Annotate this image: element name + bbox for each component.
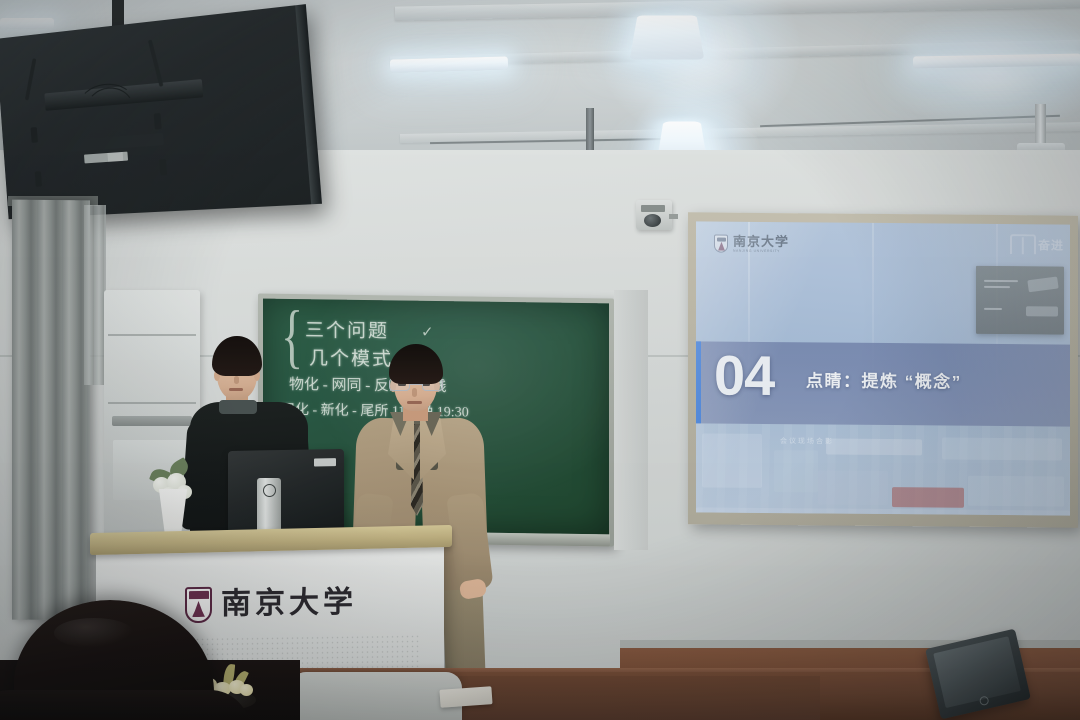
tablet-screen[interactable] — [933, 636, 1021, 708]
light-glow — [880, 10, 1080, 130]
inset-line — [984, 286, 1010, 288]
audience-member-shoulders — [0, 690, 250, 720]
inset-line — [984, 308, 1002, 310]
window-curtain-secondary[interactable] — [84, 205, 106, 385]
window-curtain[interactable] — [12, 200, 90, 621]
fluorescent-light — [0, 18, 54, 29]
slide-section-band: 04 点睛：提炼 “概念” — [696, 341, 1070, 426]
desk-monitor[interactable] — [228, 449, 344, 533]
cabinet-seam — [108, 334, 196, 336]
projection-screen[interactable]: 南京大学 NANJING UNIVERSITY 奋进 04 点睛：提炼 “概念” — [696, 221, 1070, 515]
tv-arm — [148, 39, 164, 86]
light-glow — [600, 0, 800, 140]
tv-bolt — [154, 113, 162, 130]
projection-screen-frame: 南京大学 NANJING UNIVERSITY 奋进 04 点睛：提炼 “概念” — [688, 212, 1078, 527]
tv-bolt — [159, 159, 167, 175]
monitor-logo-icon — [263, 484, 276, 497]
strip-blob — [942, 438, 1062, 461]
presenter-mouth — [407, 401, 422, 404]
tv-spec-label — [107, 152, 123, 162]
ceiling-beam — [395, 0, 1080, 21]
classroom-chair[interactable] — [290, 672, 462, 720]
arrangement-flower — [240, 684, 253, 696]
person-left-collar — [219, 400, 257, 414]
presenter-hair — [389, 344, 443, 384]
slide-section-number: 04 — [714, 348, 774, 405]
camera-lens-icon — [644, 214, 661, 227]
camera-slot — [641, 205, 665, 212]
fluorescent-light — [630, 16, 705, 60]
tv-arm — [25, 58, 36, 100]
air-vent-icon — [112, 416, 192, 426]
chalk-check-icon: ✓ — [421, 323, 434, 342]
podium-logo-text: 南京大学 — [221, 588, 357, 620]
fluorescent-light — [913, 54, 1080, 69]
person-left-hair — [212, 336, 262, 376]
classroom-scene: EPSON { 三个问题 ✓ 几个模式 — [0, 0, 1080, 720]
paper-on-table[interactable] — [439, 686, 492, 708]
hair-highlight — [54, 618, 134, 648]
person-left-mouth — [229, 388, 243, 391]
inset-line — [984, 280, 1018, 282]
strip-blob — [702, 433, 762, 488]
inset-shape — [1026, 306, 1058, 316]
strip-blob — [826, 439, 922, 456]
slide-logo-cn-text: 南京大学 — [733, 235, 789, 248]
presenter-hand — [459, 578, 488, 600]
slide-photo-strip: 会议现场合影 — [696, 423, 1070, 515]
fluorescent-light — [390, 56, 508, 72]
ceiling-mounted-tv — [0, 4, 320, 219]
cabinet-seam — [108, 402, 196, 404]
strip-blob — [696, 507, 1070, 515]
slide-inset-photo — [976, 266, 1064, 335]
slide-university-logo: 南京大学 NANJING UNIVERSITY — [714, 235, 789, 254]
strip-caption: 会议现场合影 — [780, 436, 834, 446]
inset-shape — [1027, 276, 1058, 292]
strip-blob — [818, 470, 888, 505]
nju-shield-emblem-icon — [185, 587, 212, 623]
open-book-icon — [1010, 234, 1036, 254]
tv-bolt — [35, 171, 42, 187]
camera-arm — [669, 214, 678, 219]
projector-pole — [1035, 104, 1046, 148]
shield-bell-icon — [192, 601, 205, 617]
strip-red-accent — [892, 487, 964, 508]
shield-top-band — [189, 590, 209, 598]
wall-pillar — [614, 290, 648, 550]
slide-section-title: 点睛：提炼 “概念” — [806, 366, 962, 392]
nju-shield-icon — [714, 235, 728, 253]
chalk-line-1: 三个问题 — [305, 315, 389, 343]
slide-logo-en-text: NANJING UNIVERSITY — [733, 250, 789, 254]
tv-bolt — [31, 127, 38, 143]
person-left-nose — [234, 376, 239, 384]
tv-bracket — [59, 133, 164, 152]
strip-blob — [968, 476, 1064, 507]
podium-university-logo: 南京大学 — [185, 585, 357, 623]
strip-blob — [774, 450, 818, 492]
slide-corner-badge: 奋进 — [1010, 234, 1064, 254]
monitor-spec-label — [314, 458, 336, 466]
slide-badge-text: 奋进 — [1038, 236, 1064, 253]
wall-camera — [636, 200, 672, 230]
slide-accent-bar — [696, 341, 701, 423]
